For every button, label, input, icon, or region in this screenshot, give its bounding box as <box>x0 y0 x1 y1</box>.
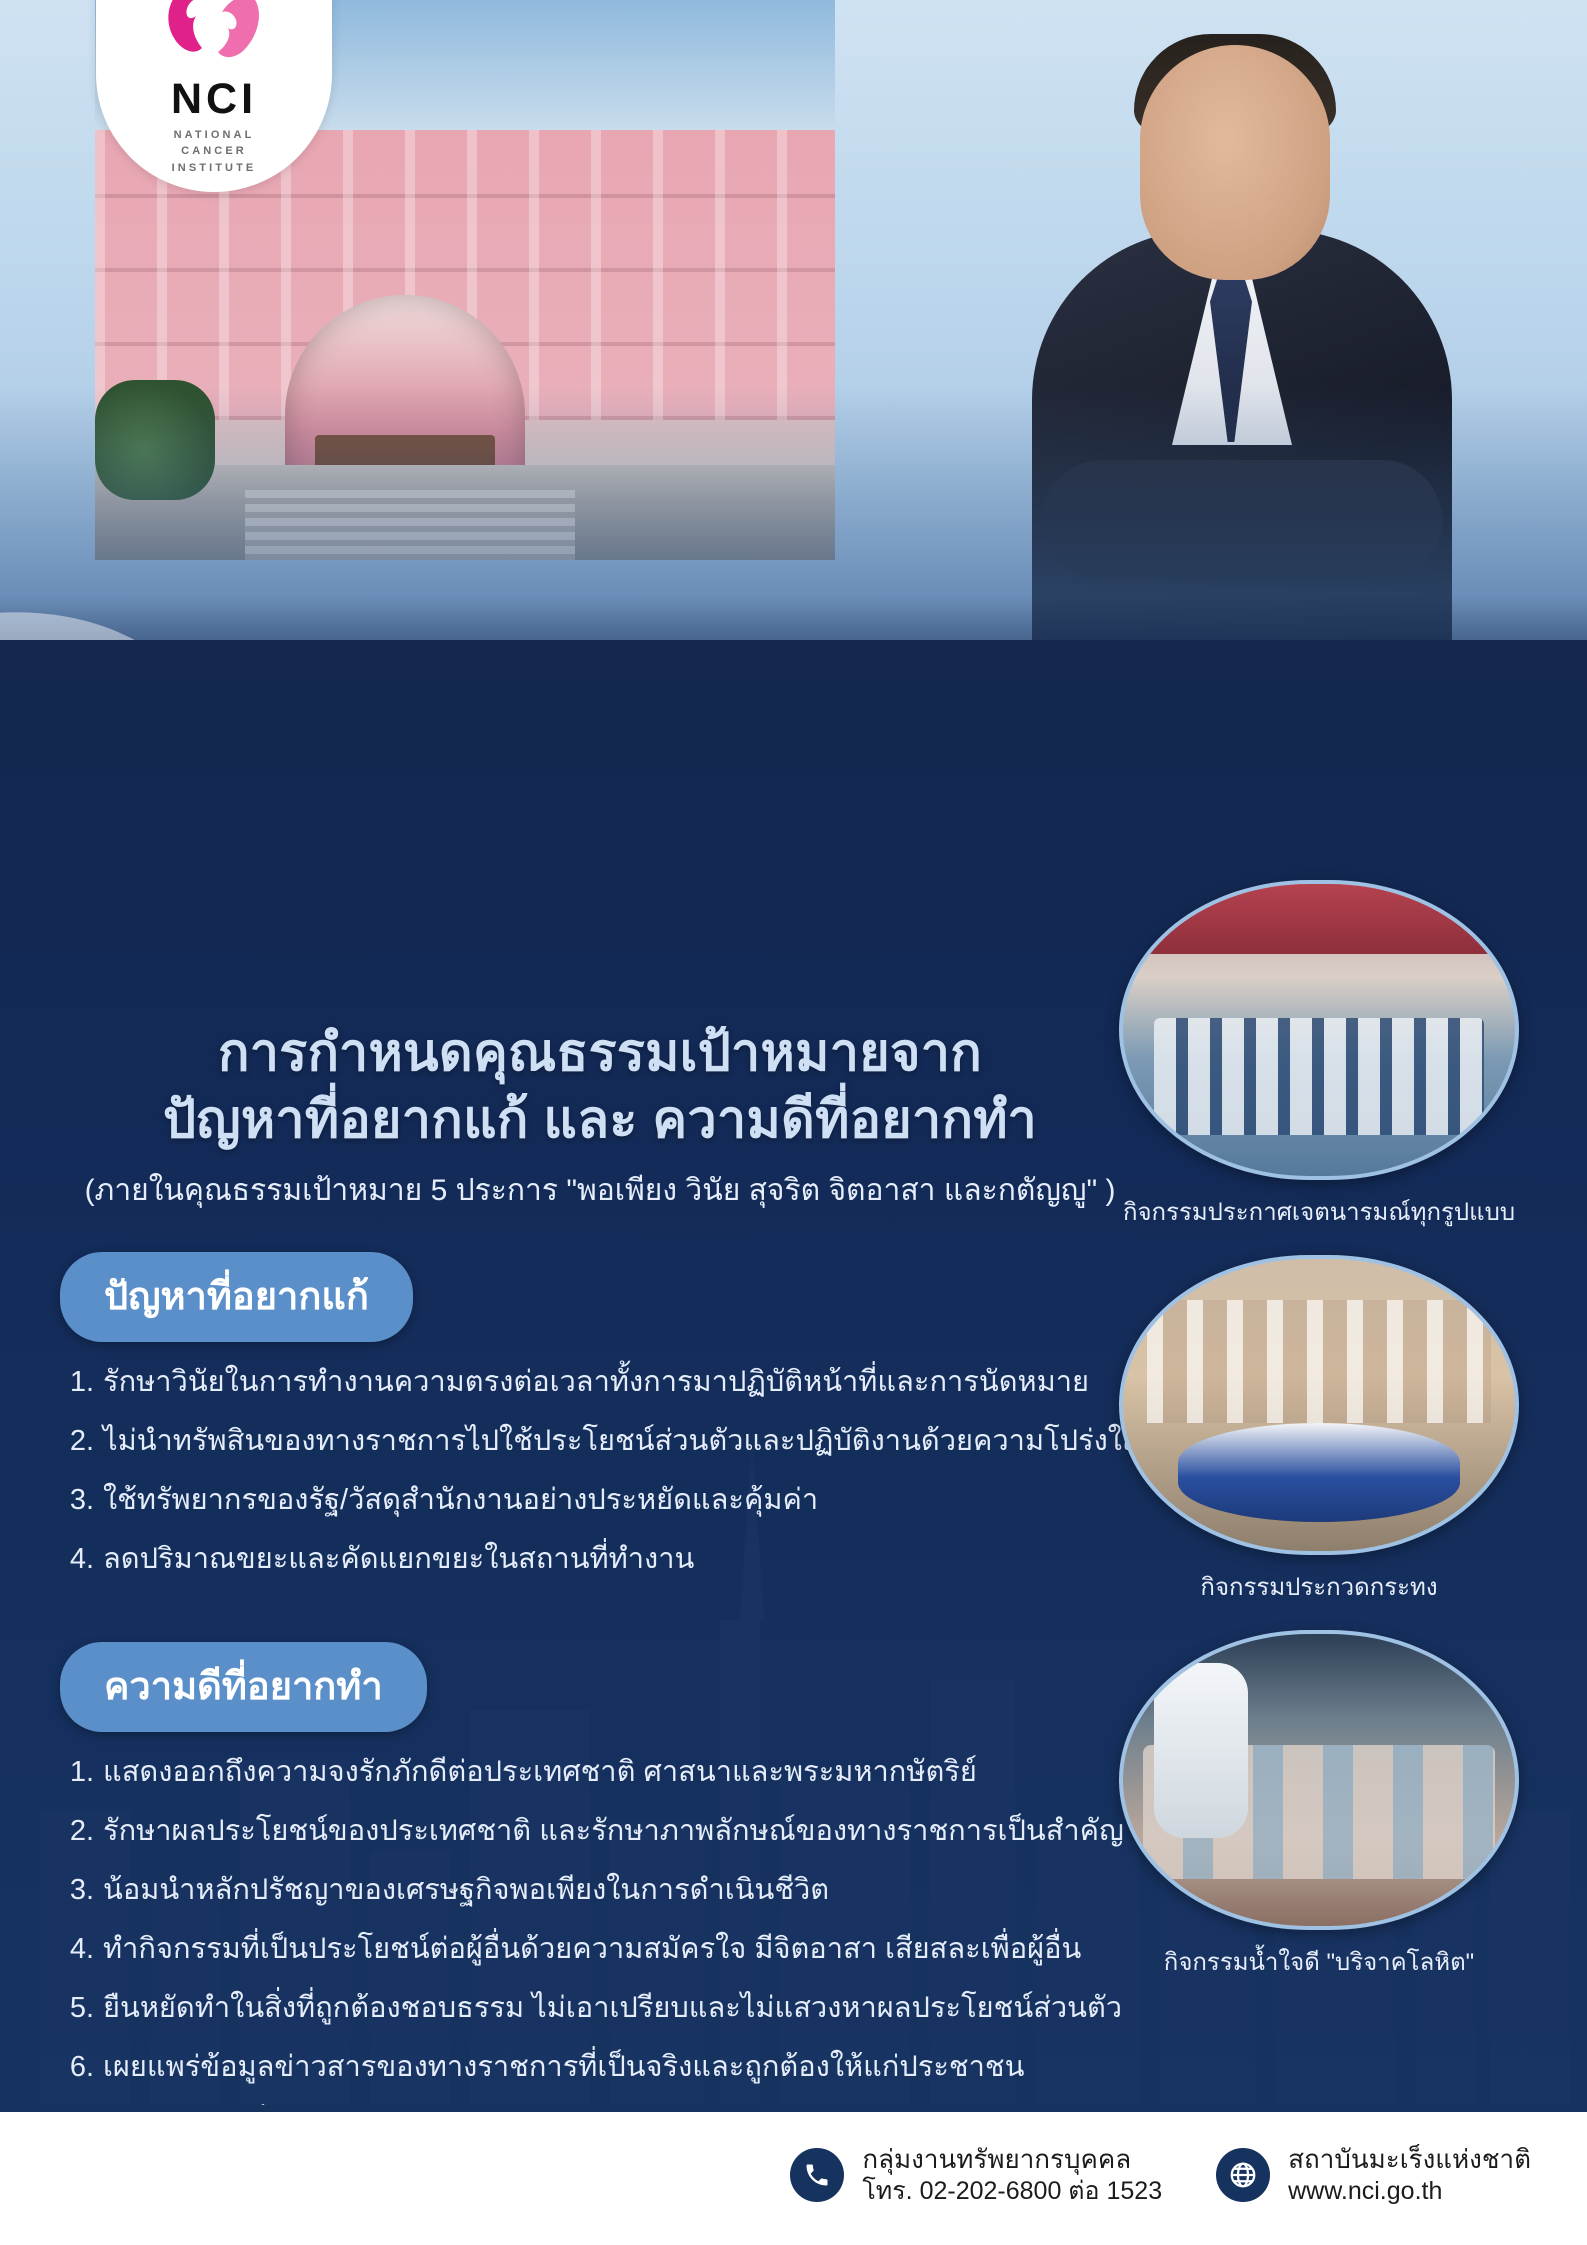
page-subtitle: (ภายในคุณธรรมเป้าหมาย 5 ประการ "พอเพียง … <box>60 1167 1140 1214</box>
phone-icon <box>790 2148 844 2202</box>
main-content: การกำหนดคุณธรรมเป้าหมายจาก ปัญหาที่อยากแ… <box>60 1020 1140 2171</box>
item-number: 1. <box>60 1758 94 1787</box>
list-item: 4.ทำกิจกรรมที่เป็นประโยชน์ต่อผู้อื่นด้วย… <box>60 1935 1140 1964</box>
activity-photo-2: กิจกรรมประกวดกระทง <box>1109 1255 1529 1606</box>
item-text: ลดปริมาณขยะและคัดแยกขยะในสถานที่ทำงาน <box>103 1545 694 1574</box>
poster-root: NCI NATIONAL CANCER INSTITUTE เรืออากาศเ… <box>0 0 1587 2245</box>
footer-site-url[interactable]: www.nci.go.th <box>1288 2176 1531 2207</box>
logo-acronym: NCI <box>171 78 257 121</box>
item-number: 1. <box>60 1368 94 1397</box>
section-problems-heading: ปัญหาที่อยากแก้ <box>60 1252 413 1342</box>
list-item: 4.ลดปริมาณขยะและคัดแยกขยะในสถานที่ทำงาน <box>60 1545 1140 1574</box>
logo-sub-line1: NATIONAL <box>174 129 255 141</box>
section-good-deeds-heading: ความดีที่อยากทำ <box>60 1642 427 1732</box>
logo-subtitle: NATIONAL CANCER INSTITUTE <box>172 127 257 177</box>
list-item: 5.ยืนหยัดทำในสิ่งที่ถูกต้องชอบธรรม ไม่เอ… <box>60 1994 1140 2023</box>
item-text: เผยแพร่ข้อมูลข่าวสารของทางราชการที่เป็นจ… <box>103 2053 1024 2082</box>
list-item: 2.ไม่นำทรัพสินของทางราชการไปใช้ประโยชน์ส… <box>60 1427 1140 1456</box>
item-text: ยืนหยัดทำในสิ่งที่ถูกต้องชอบธรรม ไม่เอาเ… <box>103 1994 1122 2023</box>
footer-contact-text: กลุ่มงานทรัพยากรบุคคล โทร. 02-202-6800 ต… <box>862 2143 1162 2207</box>
title-line-1: การกำหนดคุณธรรมเป้าหมายจาก <box>218 1024 982 1082</box>
logo-sub-line3: INSTITUTE <box>172 162 257 174</box>
item-text: แสดงออกถึงความจงรักภักดีต่อประเทศชาติ ศา… <box>103 1758 977 1787</box>
item-number: 5. <box>60 1994 94 2023</box>
item-text: ทำกิจกรรมที่เป็นประโยชน์ต่อผู้อื่นด้วยคว… <box>103 1935 1081 1964</box>
item-number: 3. <box>60 1486 94 1515</box>
footer-bar: กลุ่มงานทรัพยากรบุคคล โทร. 02-202-6800 ต… <box>0 2105 1587 2245</box>
item-number: 2. <box>60 1427 94 1456</box>
problems-list: 1.รักษาวินัยในการทำงานความตรงต่อเวลาทั้ง… <box>60 1368 1140 1574</box>
list-item: 1.แสดงออกถึงความจงรักภักดีต่อประเทศชาติ … <box>60 1758 1140 1787</box>
item-text: น้อมนำหลักปรัชญาของเศรษฐกิจพอเพียงในการด… <box>103 1876 829 1905</box>
nci-butterfly-ribbon-icon <box>154 0 274 76</box>
item-number: 6. <box>60 2053 94 2082</box>
item-number: 4. <box>60 1545 94 1574</box>
footer-org-name: กลุ่มงานทรัพยากรบุคคล <box>862 2143 1162 2176</box>
item-text: รักษาผลประโยชน์ของประเทศชาติ และรักษาภาพ… <box>103 1817 1124 1846</box>
photo-caption: กิจกรรมประกวดกระทง <box>1109 1567 1529 1606</box>
activity-photo-3: กิจกรรมน้ำใจดี "บริจาคโลหิต" <box>1109 1630 1529 1981</box>
item-number: 2. <box>60 1817 94 1846</box>
item-number: 4. <box>60 1935 94 1964</box>
list-item: 3.ใช้ทรัพยากรของรัฐ/วัสดุสำนักงานอย่างปร… <box>60 1486 1140 1515</box>
item-text: รักษาวินัยในการทำงานความตรงต่อเวลาทั้งกา… <box>103 1368 1089 1397</box>
footer-website-text: สถาบันมะเร็งแห่งชาติ www.nci.go.th <box>1288 2143 1531 2207</box>
krathong-contest-photo <box>1119 1255 1519 1555</box>
group-declaration-ceremony-photo <box>1119 880 1519 1180</box>
footer-site-org: สถาบันมะเร็งแห่งชาติ <box>1288 2143 1531 2176</box>
logo-sub-line2: CANCER <box>181 145 247 157</box>
item-text: ใช้ทรัพยากรของรัฐ/วัสดุสำนักงานอย่างประห… <box>103 1486 818 1515</box>
section-problems: ปัญหาที่อยากแก้ 1.รักษาวินัยในการทำงานคว… <box>60 1214 1140 1574</box>
footer-contact-phone: กลุ่มงานทรัพยากรบุคคล โทร. 02-202-6800 ต… <box>790 2143 1162 2207</box>
title-line-2: ปัญหาที่อยากแก้ และ ความดีที่อยากทำ <box>60 1087 1140 1154</box>
list-item: 6.เผยแพร่ข้อมูลข่าวสารของทางราชการที่เป็… <box>60 2053 1140 2082</box>
section-good-deeds: ความดีที่อยากทำ 1.แสดงออกถึงความจงรักภัก… <box>60 1604 1140 2141</box>
photo-caption: กิจกรรมประกาศเจตนารมณ์ทุกรูปแบบ <box>1109 1192 1529 1231</box>
photo-caption: กิจกรรมน้ำใจดี "บริจาคโลหิต" <box>1109 1942 1529 1981</box>
list-item: 3.น้อมนำหลักปรัชญาของเศรษฐกิจพอเพียงในกา… <box>60 1876 1140 1905</box>
footer-phone-number: โทร. 02-202-6800 ต่อ 1523 <box>862 2176 1162 2207</box>
activity-photo-1: กิจกรรมประกาศเจตนารมณ์ทุกรูปแบบ <box>1109 880 1529 1231</box>
item-number: 3. <box>60 1876 94 1905</box>
footer-website: สถาบันมะเร็งแห่งชาติ www.nci.go.th <box>1216 2143 1531 2207</box>
hero-section: NCI NATIONAL CANCER INSTITUTE เรืออากาศเ… <box>0 0 1587 700</box>
list-item: 2.รักษาผลประโยชน์ของประเทศชาติ และรักษาภ… <box>60 1817 1140 1846</box>
activity-photo-column: กิจกรรมประกาศเจตนารมณ์ทุกรูปแบบ กิจกรรมป… <box>1109 880 1529 2005</box>
good-deeds-list: 1.แสดงออกถึงความจงรักภักดีต่อประเทศชาติ … <box>60 1758 1140 2141</box>
page-title: การกำหนดคุณธรรมเป้าหมายจาก ปัญหาที่อยากแ… <box>60 1020 1140 1153</box>
globe-icon <box>1216 2148 1270 2202</box>
blood-donation-photo <box>1119 1630 1519 1930</box>
item-text: ไม่นำทรัพสินของทางราชการไปใช้ประโยชน์ส่ว… <box>103 1427 1140 1456</box>
list-item: 1.รักษาวินัยในการทำงานความตรงต่อเวลาทั้ง… <box>60 1368 1140 1397</box>
